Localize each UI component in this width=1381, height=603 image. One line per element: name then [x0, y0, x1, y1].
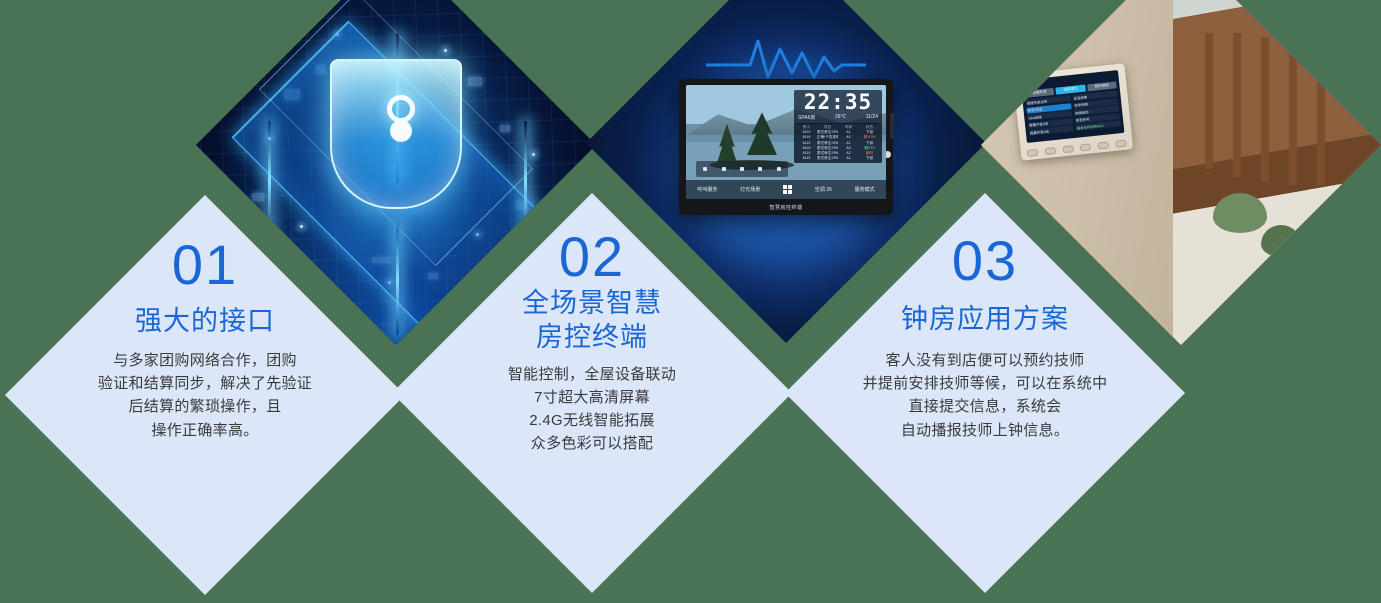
table-row[interactable]: 8119泰式养生SPAA1下钟: [796, 156, 880, 161]
panel-column-left[interactable]: 保健专家点钟 休息/洗浴 SPA经络 香薰开背2组 香薰开背2组: [1025, 95, 1074, 139]
clock-widget: 22:35 SPA6房 26℃ 11/24: [794, 90, 882, 124]
volume-icon[interactable]: [758, 167, 762, 171]
wood-slat: [1317, 53, 1325, 185]
card-2-description: 智能控制，全屋设备联动 7寸超大高清屏幕 2.4G无线智能拓展 众多色彩可以搭配: [508, 363, 676, 456]
table-cell: 下钟: [859, 156, 880, 161]
card-3-number: 03: [952, 233, 1018, 289]
prev-icon[interactable]: [703, 167, 707, 171]
nav-item-aircon[interactable]: 空调 26: [815, 186, 832, 193]
service-table: 房人 项目 时间 状态 8119泰式养生SPAA1下钟8119正骨/个性按摩疗A…: [794, 123, 882, 163]
room-label: SPA6房: [798, 114, 815, 121]
card-2-title: 全场景智慧 房控终端: [522, 287, 662, 355]
wood-slat: [1289, 45, 1297, 185]
plant: [1261, 225, 1301, 257]
wood-slat: [1233, 33, 1241, 177]
promo-banner: 01 强大的接口 与多家团购网络合作，团购 验证和结算同步，解决了先验证 后结算…: [0, 0, 1381, 603]
panel-button[interactable]: [1062, 145, 1074, 153]
nav-item-call-service[interactable]: 呼叫服务: [697, 186, 717, 193]
temperature-label: 26℃: [835, 114, 846, 121]
tablet-device: CSUZBO 22:35 SPA6房 26℃ 11/24: [679, 79, 893, 215]
list-icon[interactable]: [777, 167, 781, 171]
panel-button[interactable]: [1115, 140, 1127, 148]
panel-column-right[interactable]: 足浴按摩 修甲修脚 修脚刮痧 茶室休闲 健身技师排钟SPA: [1072, 90, 1121, 134]
panel-button[interactable]: [1098, 141, 1110, 149]
card-1-number: 01: [172, 237, 238, 293]
play-icon[interactable]: [722, 167, 726, 171]
tablet-screen[interactable]: 22:35 SPA6房 26℃ 11/24 房人 项目 时间 状态: [686, 85, 886, 199]
clock-meta: SPA6房 26℃ 11/24: [798, 114, 878, 121]
plant: [1213, 193, 1267, 233]
nav-item-service-mode[interactable]: 服务模式: [855, 186, 875, 193]
wood-slat: [1261, 37, 1269, 181]
panel-button[interactable]: [1044, 147, 1056, 155]
shield-lock-icon: [330, 59, 462, 209]
clock-time: 22:35: [798, 92, 878, 113]
tablet-chin: 智慧房控终端: [679, 200, 893, 215]
light-beam: [268, 121, 271, 241]
card-2-number: 02: [559, 229, 625, 285]
panel-body: 保健专家点钟 休息/洗浴 SPA经络 香薰开背2组 香薰开背2组 足浴按摩 修甲…: [1025, 90, 1121, 139]
wall-panel-screen[interactable]: 客房控制 保健专家 消费项目 预约排钟 保健专家点钟 休息/洗浴 SPA经络 香…: [1020, 70, 1124, 143]
table-cell: A1: [838, 156, 859, 161]
date-label: 11/24: [866, 114, 878, 121]
tablet-side-button[interactable]: [890, 113, 894, 139]
tablet-navbar[interactable]: 呼叫服务 灯光场景 空调 26 服务模式: [686, 180, 886, 199]
wall-panel-device[interactable]: 客房控制 保健专家 消费项目 预约排钟 保健专家点钟 休息/洗浴 SPA经络 香…: [1013, 63, 1133, 160]
music-player-bar[interactable]: [696, 161, 788, 177]
light-beam: [396, 225, 399, 335]
table-cell: 泰式养生SPA: [817, 156, 838, 161]
card-3-title: 钟房应用方案: [901, 303, 1069, 337]
card-1-title: 强大的接口: [135, 305, 275, 339]
next-icon[interactable]: [740, 167, 744, 171]
light-beam: [524, 121, 527, 241]
wood-slat: [1205, 33, 1213, 169]
tablet-footer-logo: 智慧房控终端: [769, 204, 802, 211]
panel-button[interactable]: [1080, 143, 1092, 151]
panel-button[interactable]: [1027, 149, 1039, 157]
table-body: 8119泰式养生SPAA1下钟8119正骨/个性按摩疗A2剩11'508119泰…: [796, 130, 880, 161]
card-3-description: 客人没有到店便可以预约技师 并提前安排技师等候，可以在系统中 直接提交信息，系统…: [863, 349, 1108, 442]
table-cell: 8119: [796, 156, 817, 161]
nav-item-light-scene[interactable]: 灯光场景: [740, 186, 760, 193]
apps-grid-icon[interactable]: [783, 185, 792, 194]
card-1-description: 与多家团购网络合作，团购 验证和结算同步，解决了先验证 后结算的繁琐操作，且 操…: [98, 349, 312, 442]
